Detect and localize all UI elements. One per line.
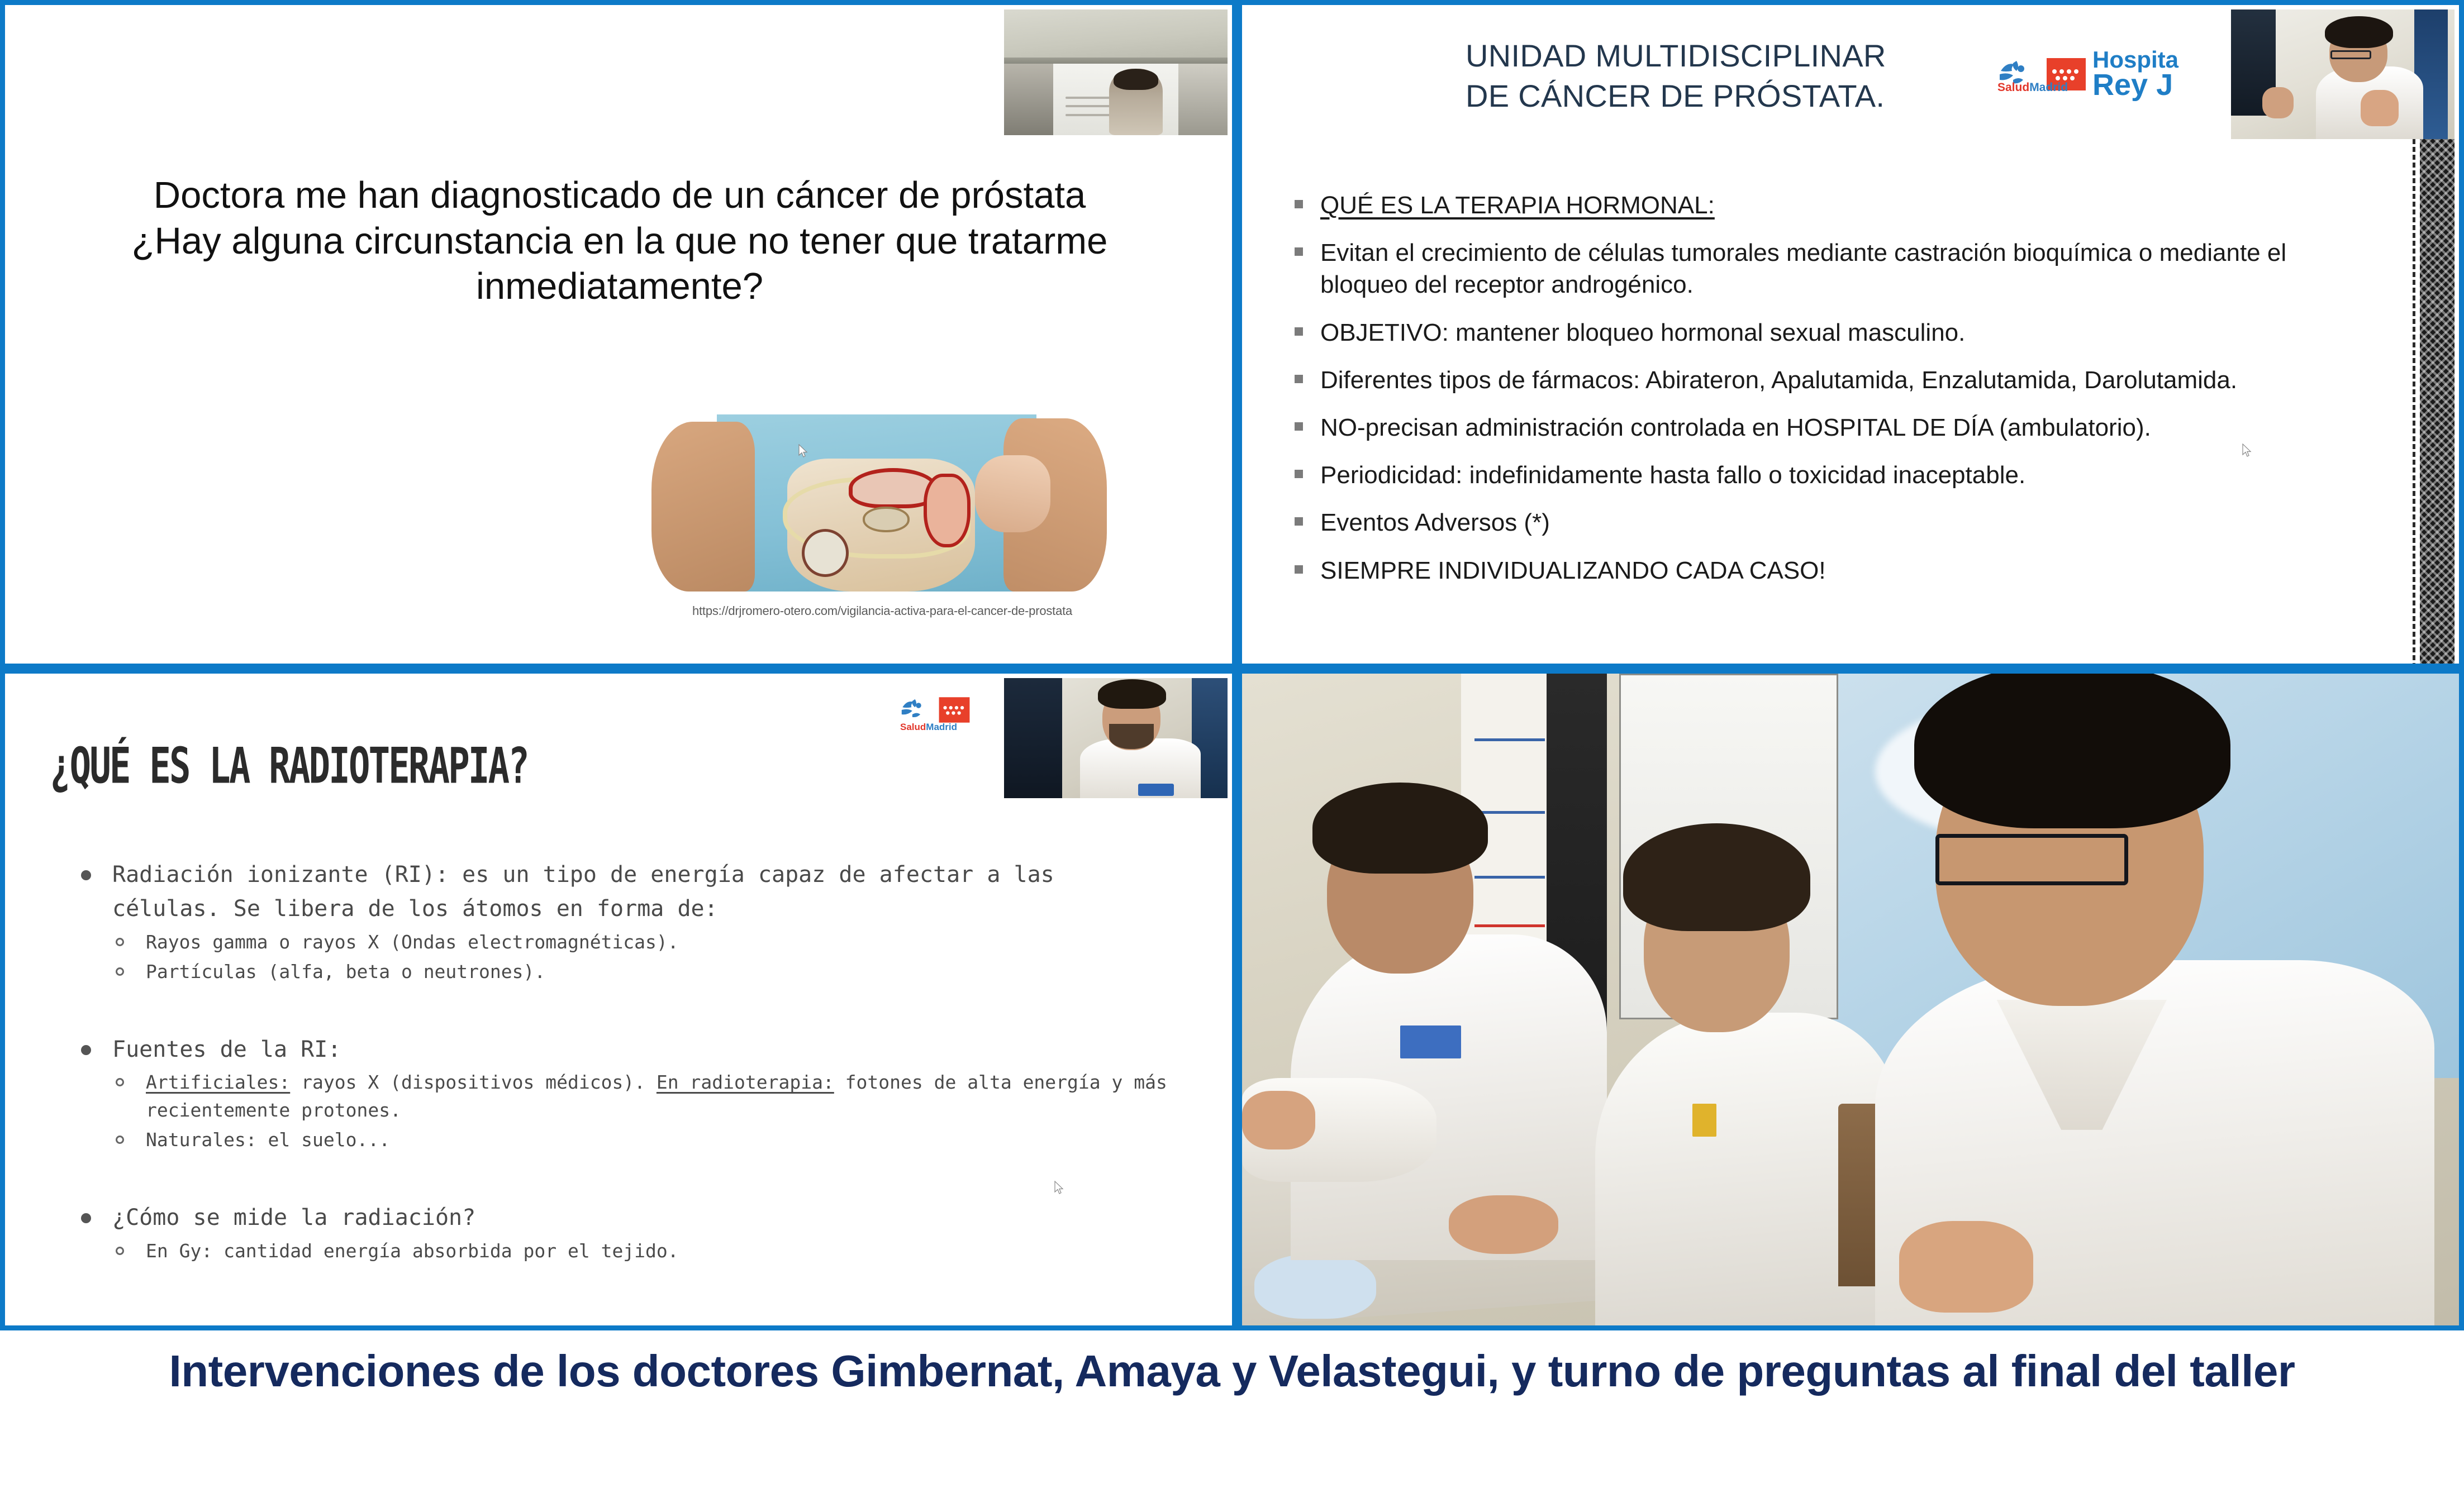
person-middle-head xyxy=(1644,869,1790,1032)
person-right-hair xyxy=(1914,674,2230,828)
bullet-level2: En Gy: cantidad energía absorbida por el… xyxy=(72,1237,1167,1265)
pointing-hand xyxy=(2262,87,2294,118)
doctor-head xyxy=(2329,25,2387,82)
image-source-url: https://drjromero-otero.com/vigilancia-a… xyxy=(653,604,1111,618)
bullet-item: Eventos Adversos (*) xyxy=(1291,507,2353,538)
bullet-item: Diferentes tipos de fármacos: Abirateron… xyxy=(1291,364,2353,396)
id-badge xyxy=(1138,784,1174,796)
screenshot-root: Doctora me han diagnosticado de un cánce… xyxy=(0,0,2464,1493)
caption-text: Intervenciones de los doctores Gimbernat… xyxy=(115,1345,2349,1397)
spacer xyxy=(72,1154,1167,1184)
prostate-shape xyxy=(863,507,910,532)
person-left-badge xyxy=(1400,1025,1461,1058)
speaker-figure xyxy=(1109,69,1163,135)
right-hand xyxy=(975,455,1050,533)
mouse-cursor-icon xyxy=(1054,1181,1064,1195)
hormonal-therapy-bullet-list: QUÉ ES LA TERAPIA HORMONAL: Evitan el cr… xyxy=(1291,189,2353,602)
webcam-scene xyxy=(1004,678,1228,798)
person-left-hair xyxy=(1312,783,1488,873)
webcam-overlay-top-right[interactable] xyxy=(2231,9,2455,139)
slide-terapia-hormonal: UNIDAD MULTIDISCIPLINAR DE CÁNCER DE PRÓ… xyxy=(1242,5,2459,664)
hospital-word-line2: Rey J xyxy=(2092,71,2178,99)
prostate-anatomy-image xyxy=(642,407,1111,592)
person-left-hand xyxy=(1242,1091,1315,1149)
ceiling-rail xyxy=(1004,58,1228,64)
question-line-1: Doctora me han diagnosticado de un cánce… xyxy=(72,173,1167,218)
slide-title-line-2: DE CÁNCER DE PRÓSTATA. xyxy=(1466,76,2047,116)
webcam-scene xyxy=(1004,9,1228,135)
question-line-2: ¿Hay alguna circunstancia en la que no t… xyxy=(72,218,1167,309)
webcam-scene xyxy=(2231,9,2455,139)
slide-question-text: Doctora me han diagnosticado de un cánce… xyxy=(72,173,1167,309)
person-middle-hair xyxy=(1623,823,1810,931)
saludmadrid-wordmark: SaludMadrid xyxy=(1997,81,2068,94)
hospital-word-line1: Hospita xyxy=(2092,49,2178,71)
bullet-item: NO-precisan administración controlada en… xyxy=(1291,412,2353,443)
artificiales-label: Artificiales: xyxy=(146,1071,290,1093)
hospital-logo: SaludMadrid xyxy=(899,696,971,727)
en-radioterapia-label: En radioterapia: xyxy=(657,1071,834,1093)
artificiales-mid: rayos X (dispositivos médicos). xyxy=(290,1071,657,1093)
spacer xyxy=(72,986,1167,1016)
slide-radioterapia: ¿QUÉ ES LA RADIOTERAPIA? xyxy=(5,674,1232,1325)
slide-pregunta-paciente: Doctora me han diagnosticado de un cánce… xyxy=(5,5,1232,664)
bullet-item: Evitan el crecimiento de células tumoral… xyxy=(1291,237,2353,300)
hospital-wordmark: Hospita Rey J xyxy=(2092,49,2178,99)
video-frame-edge-line xyxy=(2413,139,2415,664)
person-right-head xyxy=(1935,719,2203,1006)
bullet-item: OBJETIVO: mantener bloqueo hormonal sexu… xyxy=(1291,317,2353,349)
bullet-item: SIEMPRE INDIVIDUALIZANDO CADA CASO! xyxy=(1291,555,2353,586)
ceiling xyxy=(1004,9,1228,65)
bullet-level1: Fuentes de la RI: xyxy=(72,1033,1167,1067)
rectum-shape xyxy=(924,474,971,547)
wall-left xyxy=(1004,64,1055,135)
bullet-level2: Naturales: el suelo... xyxy=(72,1126,1167,1154)
bullet-level2-mixed: Artificiales: rayos X (dispositivos médi… xyxy=(72,1069,1167,1124)
saludmadrid-wordmark: SaludMadrid xyxy=(900,722,957,733)
radiotherapy-content: Radiación ionizante (RI): es un tipo de … xyxy=(72,841,1167,1265)
person-right-hand xyxy=(1899,1221,2033,1312)
doctor-beard xyxy=(1109,724,1153,749)
left-arm xyxy=(651,422,755,592)
panel-top-right[interactable]: UNIDAD MULTIDISCIPLINAR DE CÁNCER DE PRÓ… xyxy=(1237,0,2464,669)
slide-title: UNIDAD MULTIDISCIPLINAR DE CÁNCER DE PRÓ… xyxy=(1466,36,2047,116)
raised-hand xyxy=(2361,90,2399,126)
speaker-hair xyxy=(1114,69,1159,90)
speaker-grille-strip xyxy=(2420,139,2455,664)
slide-title: ¿QUÉ ES LA RADIOTERAPIA? xyxy=(50,738,528,795)
pen xyxy=(1692,1104,1717,1136)
wall-right xyxy=(1176,64,1228,135)
panel-bottom-left[interactable]: ¿QUÉ ES LA RADIOTERAPIA? xyxy=(0,669,1237,1330)
hospital-logo: SaludMadrid Hospita Rey J xyxy=(1996,49,2178,99)
webcam-overlay-bottom-left[interactable] xyxy=(1004,678,1228,798)
glasses-icon xyxy=(2330,50,2371,59)
equipment-left xyxy=(1004,678,1062,798)
bullet-item: Periodicidad: indefinidamente hasta fall… xyxy=(1291,459,2353,491)
surgical-mask xyxy=(1254,1254,1376,1319)
doctor-hair xyxy=(1098,679,1167,709)
mouse-cursor-icon xyxy=(2242,443,2252,458)
figure-caption: Intervenciones de los doctores Gimbernat… xyxy=(0,1330,2464,1493)
bullet-item: QUÉ ES LA TERAPIA HORMONAL: xyxy=(1291,189,2353,221)
bullet-level1: ¿Cómo se mide la radiación? xyxy=(72,1201,1167,1235)
panel-top-left[interactable]: Doctora me han diagnosticado de un cánce… xyxy=(0,0,1237,669)
panel-photograph xyxy=(1242,674,2459,1325)
bullet-level2: Partículas (alfa, beta o neutrones). xyxy=(72,958,1167,986)
webcam-overlay-top-left[interactable] xyxy=(1004,9,1228,135)
person-left-head xyxy=(1327,817,1473,974)
person-middle-hand xyxy=(1449,1195,1558,1254)
doctor-hair xyxy=(2325,16,2394,48)
mouse-cursor-icon xyxy=(798,444,808,459)
glasses-icon xyxy=(1935,834,2128,885)
doctor-head xyxy=(1102,688,1160,750)
bullet-level1: Radiación ionizante (RI): es un tipo de … xyxy=(72,858,1167,926)
testis-shape xyxy=(802,529,849,577)
panel-bottom-right[interactable] xyxy=(1237,669,2464,1330)
bullet-level2: Rayos gamma o rayos X (Ondas electromagn… xyxy=(72,928,1167,956)
slide-title-line-1: UNIDAD MULTIDISCIPLINAR xyxy=(1466,36,2047,76)
